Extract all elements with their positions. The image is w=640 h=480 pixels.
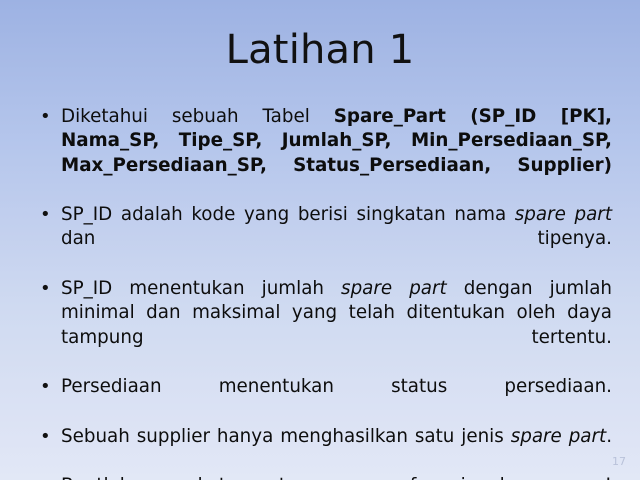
bullet-text: Diketahui sebuah Tabel Spare_Part (SP_ID…	[61, 105, 612, 202]
bullet-item: •SP_ID menentukan jumlah spare part deng…	[34, 277, 612, 374]
bullet-text-italic-run: spare part	[515, 204, 612, 225]
bullet-text: Sebuah supplier hanya menghasilkan satu …	[61, 425, 612, 474]
slide-body: •Diketahui sebuah Tabel Spare_Part (SP_I…	[34, 105, 612, 480]
bullet-text: Buatlah ketergantungan fungsionalnya !	[61, 474, 612, 480]
bullet-dot-icon: •	[40, 474, 51, 480]
bullet-text-italic-run: spare part	[341, 278, 447, 299]
bullet-text: Persediaan menentukan status persediaan.	[61, 375, 612, 424]
bullet-dot-icon: •	[40, 105, 51, 129]
bullet-item: •Diketahui sebuah Tabel Spare_Part (SP_I…	[34, 105, 612, 202]
slide-title: Latihan 1	[0, 28, 640, 72]
bullet-list: •Diketahui sebuah Tabel Spare_Part (SP_I…	[34, 105, 612, 480]
presentation-slide: Latihan 1 •Diketahui sebuah Tabel Spare_…	[0, 0, 640, 480]
bullet-text-run: SP_ID adalah kode yang berisi singkatan …	[61, 204, 515, 225]
bullet-text-run: .	[606, 426, 612, 447]
bullet-text-run: Diketahui sebuah Tabel	[61, 106, 334, 127]
bullet-item: •Persediaan menentukan status persediaan…	[34, 375, 612, 424]
bullet-dot-icon: •	[40, 203, 51, 227]
bullet-text: SP_ID menentukan jumlah spare part denga…	[61, 277, 612, 374]
bullet-text-italic-run: spare part	[511, 426, 607, 447]
bullet-item: •SP_ID adalah kode yang berisi singkatan…	[34, 203, 612, 276]
slide-number: 17	[612, 455, 626, 468]
bullet-dot-icon: •	[40, 277, 51, 301]
bullet-dot-icon: •	[40, 425, 51, 449]
bullet-text-run: SP_ID menentukan jumlah	[61, 278, 341, 299]
bullet-text-run: Sebuah supplier hanya menghasilkan satu …	[61, 426, 511, 447]
bullet-text: SP_ID adalah kode yang berisi singkatan …	[61, 203, 612, 276]
bullet-dot-icon: •	[40, 375, 51, 399]
bullet-text-run: Persediaan menentukan status persediaan.	[61, 376, 612, 397]
bullet-text-run: dan tipenya.	[61, 228, 612, 249]
bullet-text-run: Buatlah ketergantungan fungsionalnya !	[61, 475, 612, 480]
bullet-item: •Sebuah supplier hanya menghasilkan satu…	[34, 425, 612, 474]
bullet-item: •Buatlah ketergantungan fungsionalnya !	[34, 474, 612, 480]
